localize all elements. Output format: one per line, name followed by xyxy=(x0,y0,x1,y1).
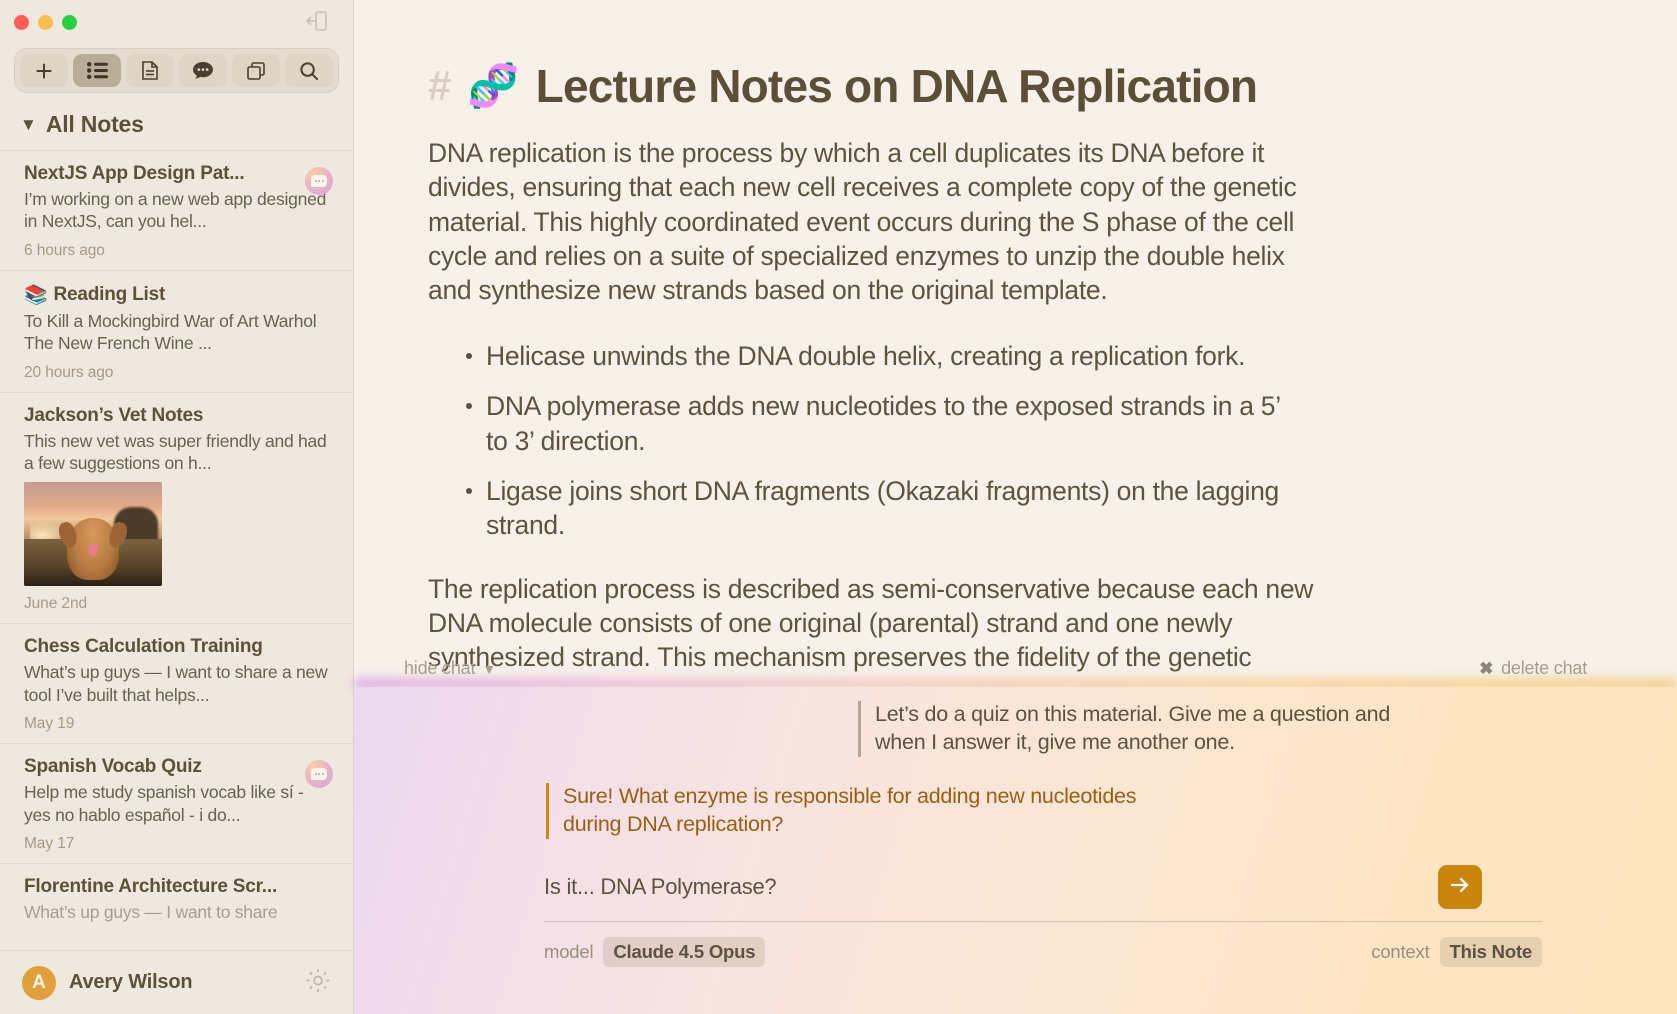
note-item-date: June 2nd xyxy=(24,595,329,613)
note-item-date: May 19 xyxy=(24,715,329,733)
chat-badge-icon xyxy=(305,167,333,195)
sidebar-toolbar xyxy=(14,48,339,93)
user-name-label: Avery Wilson xyxy=(69,971,192,994)
list-item[interactable]: NextJS App Design Pat... I’m working on … xyxy=(0,150,353,270)
hash-icon: # xyxy=(428,65,451,107)
note-item-title-text: Florentine Architecture Scr... xyxy=(24,876,277,898)
note-item-title-text: Spanish Vocab Quiz xyxy=(24,756,202,778)
hide-chat-button[interactable]: hide chat ▼ xyxy=(404,658,496,679)
list-item[interactable]: Jackson’s Vet Notes This new vet was sup… xyxy=(0,392,353,624)
note-item-preview: Help me study spanish vocab like sí - ye… xyxy=(24,781,329,826)
note-item-title: Spanish Vocab Quiz xyxy=(24,756,329,778)
app-window: ▼ All Notes NextJS App Design Pat... I’m… xyxy=(0,0,1677,1014)
note-item-title-text: Jackson’s Vet Notes xyxy=(24,405,203,427)
note-content[interactable]: # 🧬 Lecture Notes on DNA Replication DNA… xyxy=(354,0,1677,675)
chat-message-assistant: Sure! What enzyme is responsible for add… xyxy=(546,783,1146,839)
chat-message-user: Let’s do a quiz on this material. Give m… xyxy=(858,701,1398,757)
note-item-preview: I’m working on a new web app designed in… xyxy=(24,188,329,233)
document-view-button[interactable] xyxy=(126,54,174,87)
minimize-window-button[interactable] xyxy=(38,15,53,30)
document-icon xyxy=(141,60,159,81)
note-thumbnail-image xyxy=(24,482,162,586)
chat-badge-icon xyxy=(305,760,333,788)
list-icon xyxy=(87,62,108,79)
note-item-title: Florentine Architecture Scr... xyxy=(24,876,329,898)
context-value-chip[interactable]: This Note xyxy=(1440,937,1542,967)
sidebar-toolbar-wrap xyxy=(0,42,353,103)
chat-divider xyxy=(544,921,1542,922)
note-item-date: May 17 xyxy=(24,835,329,853)
chat-input[interactable] xyxy=(544,868,1438,906)
list-item[interactable]: Florentine Architecture Scr... What’s up… xyxy=(0,863,353,933)
note-item-date: 20 hours ago xyxy=(24,364,329,382)
chat-panel: Let’s do a quiz on this material. Give m… xyxy=(354,687,1677,1014)
copy-icon xyxy=(246,61,266,81)
note-item-preview: What’s up guys — I want to share xyxy=(24,901,329,923)
note-item-date: 6 hours ago xyxy=(24,242,329,260)
maximize-window-button[interactable] xyxy=(62,15,77,30)
note-item-title: Jackson’s Vet Notes xyxy=(24,405,329,427)
gear-icon[interactable] xyxy=(305,967,331,998)
title-bar xyxy=(0,0,353,42)
chevron-down-icon: ▼ xyxy=(20,116,37,133)
delete-chat-button[interactable]: ✖ delete chat xyxy=(1479,658,1587,679)
new-note-button[interactable] xyxy=(20,54,68,87)
list-item[interactable]: 📚 Reading List To Kill a Mockingbird War… xyxy=(0,270,353,392)
note-item-preview: To Kill a Mockingbird War of Art Warhol … xyxy=(24,310,329,355)
model-label: model xyxy=(544,941,593,963)
collapse-sidebar-icon[interactable] xyxy=(303,8,329,34)
close-window-button[interactable] xyxy=(14,15,29,30)
chat-view-button[interactable] xyxy=(179,54,227,87)
chat-message-assistant-text: Sure! What enzyme is responsible for add… xyxy=(563,783,1146,839)
note-bullet-item: Helicase unwinds the DNA double helix, c… xyxy=(466,339,1308,373)
list-view-button[interactable] xyxy=(73,54,121,87)
search-button[interactable] xyxy=(285,54,333,87)
note-item-title: Chess Calculation Training xyxy=(24,636,329,658)
note-paragraph-2: The replication process is described as … xyxy=(428,572,1333,675)
close-icon: ✖ xyxy=(1479,659,1493,679)
chat-input-row xyxy=(544,865,1482,909)
traffic-lights xyxy=(14,15,77,30)
list-item[interactable]: Spanish Vocab Quiz Help me study spanish… xyxy=(0,743,353,863)
delete-chat-label: delete chat xyxy=(1501,658,1587,679)
note-item-title: NextJS App Design Pat... xyxy=(24,163,329,185)
sidebar: ▼ All Notes NextJS App Design Pat... I’m… xyxy=(0,0,354,1014)
chat-footer: model Claude 4.5 Opus context This Note xyxy=(544,937,1542,967)
note-bullet-list: Helicase unwinds the DNA double helix, c… xyxy=(428,339,1308,542)
chat-bubble-icon xyxy=(192,61,214,80)
duplicate-button[interactable] xyxy=(232,54,280,87)
note-item-title-text: Chess Calculation Training xyxy=(24,636,263,658)
chat-message-user-text: Let’s do a quiz on this material. Give m… xyxy=(875,701,1398,757)
dna-emoji-icon: 🧬 xyxy=(467,65,519,107)
search-icon xyxy=(299,61,319,81)
model-selector[interactable]: model Claude 4.5 Opus xyxy=(544,937,765,967)
sidebar-footer: A Avery Wilson xyxy=(0,950,353,1014)
arrow-right-icon xyxy=(1448,873,1472,902)
context-selector[interactable]: context This Note xyxy=(1371,937,1542,967)
hide-chat-label: hide chat xyxy=(404,658,475,679)
note-bullet-item: DNA polymerase adds new nucleotides to t… xyxy=(466,389,1308,457)
note-list[interactable]: NextJS App Design Pat... I’m working on … xyxy=(0,150,353,950)
note-item-title-text: NextJS App Design Pat... xyxy=(24,163,244,185)
context-label: context xyxy=(1371,941,1429,963)
note-paragraph-1: DNA replication is the process by which … xyxy=(428,136,1333,307)
model-value-chip[interactable]: Claude 4.5 Opus xyxy=(603,937,765,967)
note-bullet-item: Ligase joins short DNA fragments (Okazak… xyxy=(466,474,1308,542)
note-item-preview: What’s up guys — I want to share a new t… xyxy=(24,661,329,706)
note-item-title: 📚 Reading List xyxy=(24,283,329,307)
note-title-text: Lecture Notes on DNA Replication xyxy=(536,62,1258,110)
avatar[interactable]: A xyxy=(22,966,56,1000)
chevron-down-icon: ▼ xyxy=(482,661,496,677)
all-notes-label: All Notes xyxy=(46,111,144,138)
books-emoji-icon: 📚 xyxy=(24,283,47,307)
all-notes-header[interactable]: ▼ All Notes xyxy=(0,103,353,150)
note-item-preview: This new vet was super friendly and had … xyxy=(24,430,329,475)
send-button[interactable] xyxy=(1438,865,1482,909)
note-item-title-text: Reading List xyxy=(53,284,165,306)
list-item[interactable]: Chess Calculation Training What’s up guy… xyxy=(0,623,353,743)
page-title: # 🧬 Lecture Notes on DNA Replication xyxy=(428,62,1603,110)
plus-icon xyxy=(34,61,54,81)
